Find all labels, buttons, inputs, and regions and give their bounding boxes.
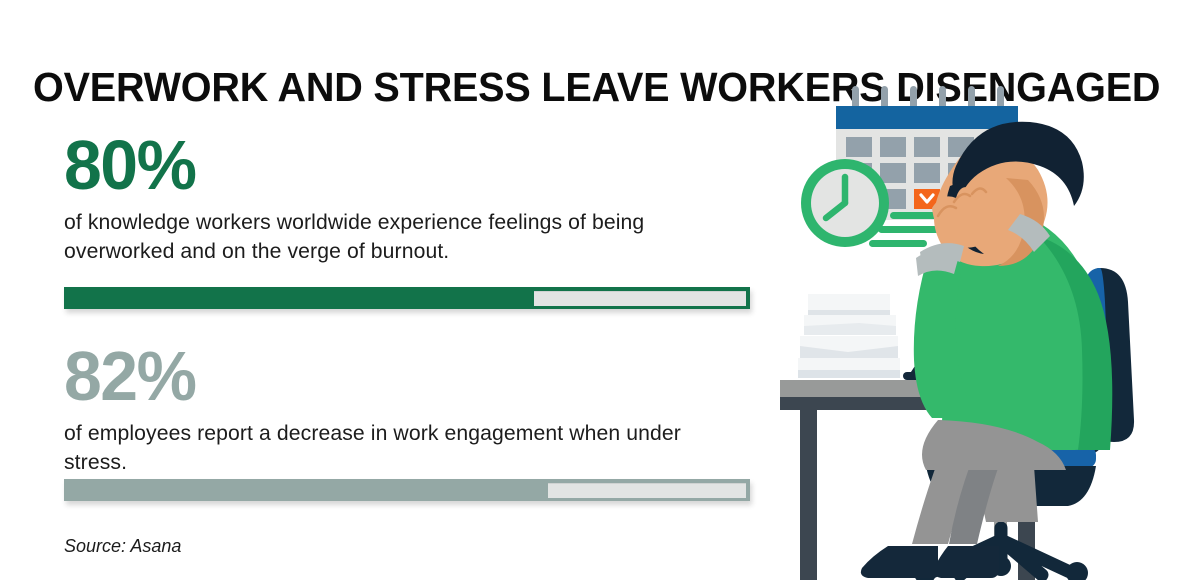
stat-description-1: of knowledge workers worldwide experienc… bbox=[64, 208, 744, 266]
progress-bar-1 bbox=[64, 287, 750, 309]
stat-value-2: 82% bbox=[64, 339, 743, 413]
source-label: Source: Asana bbox=[64, 536, 181, 557]
stack-of-papers-icon bbox=[798, 294, 900, 378]
stressed-worker-illustration bbox=[770, 0, 1200, 580]
progress-bar-2 bbox=[64, 479, 750, 501]
stat-block-2: 82% of employees report a decrease in wo… bbox=[64, 339, 764, 477]
progress-bar-remainder-2 bbox=[548, 483, 746, 498]
infographic-root: OVERWORK AND STRESS LEAVE WORKERS DISENG… bbox=[0, 0, 1200, 580]
clock-icon bbox=[801, 159, 889, 247]
progress-bar-remainder-1 bbox=[534, 291, 746, 306]
stat-value-1: 80% bbox=[64, 128, 743, 202]
stat-description-2: of employees report a decrease in work e… bbox=[64, 419, 744, 477]
stat-block-1: 80% of knowledge workers worldwide exper… bbox=[64, 128, 764, 266]
